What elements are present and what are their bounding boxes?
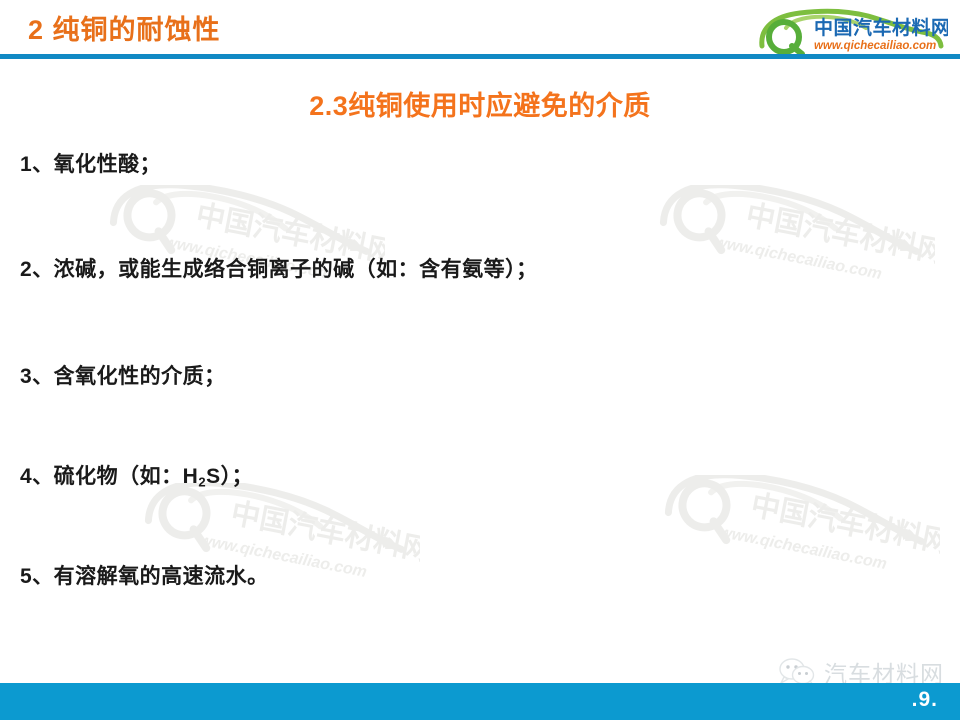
header-divider-rule <box>0 54 960 59</box>
brand-logo-icon: 中国汽车材料网 www.qichecailiao.com <box>752 4 948 54</box>
list-item-subscript: 2 <box>198 475 206 490</box>
footer-bar <box>0 683 960 720</box>
list-item: 3、含氧化性的介质； <box>20 364 226 390</box>
list-item: 4、硫化物（如：H2S）； <box>20 464 253 491</box>
brand-logo: 中国汽车材料网 www.qichecailiao.com <box>752 4 948 54</box>
list-item: 1、氧化性酸； <box>20 152 161 178</box>
brand-logo-url: www.qichecailiao.com <box>814 40 936 52</box>
list-item: 2、浓碱，或能生成络合铜离子的碱（如：含有氨等）； <box>20 257 538 283</box>
brand-logo-name: 中国汽车材料网 <box>814 16 948 39</box>
svg-text:中国汽车材料网: 中国汽车材料网 <box>228 496 420 568</box>
list-item-prefix: 4、硫化物（如：H <box>20 465 198 488</box>
watermark-logo: 中国汽车材料网 www.qichecailiao.com <box>650 475 940 579</box>
svg-text:中国汽车材料网: 中国汽车材料网 <box>748 488 940 560</box>
section-title: 2 纯铜的耐蚀性 <box>28 8 221 47</box>
slide-header: 2 纯铜的耐蚀性 中国汽车材料网 www.qichecailiao.com <box>0 0 960 56</box>
svg-text:中国汽车材料网: 中国汽车材料网 <box>743 198 935 270</box>
svg-text:www.qichecailiao.com: www.qichecailiao.com <box>713 234 883 283</box>
slide-canvas: 2 纯铜的耐蚀性 中国汽车材料网 www.qichecailiao.com <box>0 0 960 720</box>
list-item: 5、有溶解氧的高速流水。 <box>20 564 269 590</box>
watermark-logo: 中国汽车材料网 www.qichecailiao.com <box>645 185 935 289</box>
page-title: 2.3纯铜使用时应避免的介质 <box>0 84 960 123</box>
svg-text:www.qichecailiao.com: www.qichecailiao.com <box>718 524 888 573</box>
page-number: .9. <box>912 688 938 712</box>
list-item-suffix: S）； <box>206 465 253 488</box>
